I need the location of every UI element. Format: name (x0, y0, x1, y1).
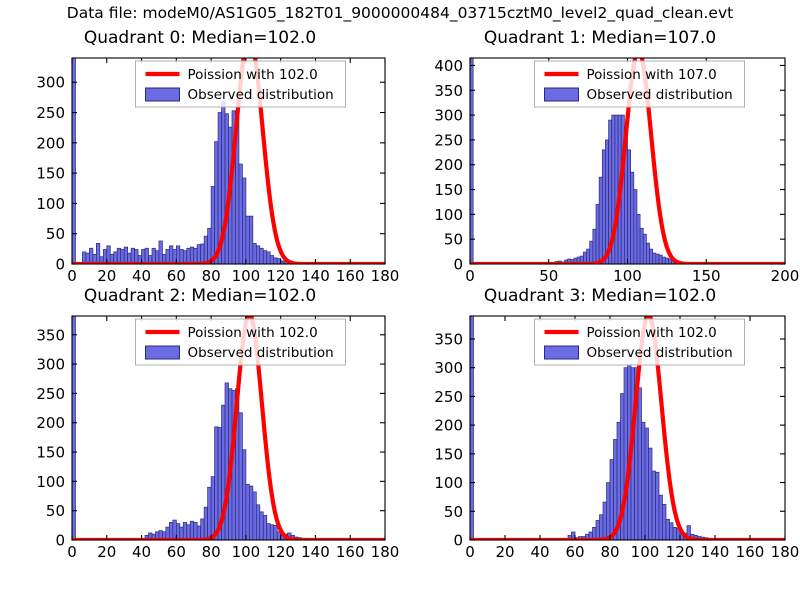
x-tick-label: 80 (202, 267, 221, 285)
legend-label-observed: Observed distribution (587, 87, 733, 103)
histogram-bar (260, 248, 263, 264)
y-tick-label: 150 (434, 181, 463, 199)
histogram-bar (117, 248, 120, 264)
x-tick-label: 150 (692, 267, 721, 285)
legend[interactable]: Poission with 102.0Observed distribution (136, 61, 346, 107)
histogram-bar (587, 249, 590, 264)
histogram-bar (662, 257, 665, 264)
y-tick-label: 50 (46, 502, 65, 520)
legend-bar-swatch (146, 346, 180, 359)
x-tick-label: 120 (666, 543, 695, 561)
histogram-bar (659, 495, 663, 540)
histogram-bar (190, 247, 193, 264)
subplot-quadrant-2: Quadrant 2: Median=102.00204060801001201… (0, 286, 400, 586)
y-tick-label: 50 (46, 225, 65, 243)
x-tick-label: 0 (67, 543, 77, 561)
x-tick-label: 100 (613, 267, 642, 285)
y-tick-label: 300 (434, 359, 463, 377)
plot-area: 0204060801001201401601800501001502002503… (400, 286, 800, 586)
y-tick-label: 100 (36, 473, 65, 491)
subplot-title: Quadrant 2: Median=102.0 (0, 286, 400, 306)
histogram-bar (615, 115, 618, 264)
x-tick-label: 0 (465, 543, 475, 561)
x-tick-label: 120 (266, 543, 295, 561)
y-tick-label: 50 (444, 231, 463, 249)
histogram-bar (145, 248, 148, 264)
y-tick-label: 350 (434, 82, 463, 100)
histogram-bar (187, 525, 190, 540)
histogram-bar (642, 422, 646, 540)
histogram-bar (239, 164, 242, 264)
x-tick-label: 100 (631, 543, 660, 561)
histogram-bar (607, 483, 611, 540)
x-tick-label: 20 (97, 543, 116, 561)
x-tick-label: 20 (97, 267, 116, 285)
histogram-bar (666, 519, 670, 540)
histogram-bar (204, 507, 207, 540)
subplot-quadrant-3: Quadrant 3: Median=102.00204060801001201… (400, 286, 800, 586)
histogram-bar (263, 251, 266, 264)
histogram-bar (590, 241, 593, 264)
histogram-bar (135, 249, 138, 264)
histogram-bar (631, 172, 634, 264)
histogram-bar (646, 243, 649, 264)
histogram-bar (215, 427, 218, 540)
y-tick-label: 350 (36, 326, 65, 344)
histogram-bar (89, 248, 92, 264)
histogram-bar (121, 249, 124, 264)
y-tick-label: 200 (434, 417, 463, 435)
histogram-bar (596, 204, 599, 264)
x-tick-label: 40 (132, 543, 151, 561)
histogram-bar (166, 249, 169, 264)
histogram-bar (152, 248, 155, 264)
histogram-bar (201, 244, 204, 264)
x-tick-label: 140 (301, 543, 330, 561)
x-tick-label: 160 (736, 543, 765, 561)
histogram-bar (96, 243, 99, 264)
y-tick-label: 350 (434, 330, 463, 348)
histogram-bar (246, 484, 249, 540)
histogram-bar (665, 258, 668, 264)
histogram-bar (602, 150, 605, 264)
legend-bar-swatch (545, 346, 579, 359)
histogram-bar (194, 248, 197, 264)
x-tick-label: 200 (771, 267, 800, 285)
histogram-bar (267, 252, 270, 264)
legend-label-poisson: Poission with 102.0 (188, 325, 318, 341)
x-tick-label: 0 (465, 267, 475, 285)
x-tick-label: 160 (336, 267, 365, 285)
histogram-bar (634, 190, 637, 264)
legend-label-poisson: Poission with 102.0 (188, 67, 318, 83)
histogram-bar (190, 521, 193, 540)
histogram-bar (197, 245, 200, 264)
y-tick-label: 0 (453, 532, 463, 550)
histogram-bar (670, 523, 674, 540)
histogram-bar (263, 515, 266, 540)
subplot-title: Quadrant 1: Median=107.0 (400, 28, 800, 48)
y-tick-label: 200 (36, 414, 65, 432)
y-tick-label: 250 (36, 104, 65, 122)
y-tick-label: 150 (36, 444, 65, 462)
legend-label-poisson: Poission with 107.0 (587, 67, 717, 83)
histogram-bar (187, 248, 190, 264)
x-tick-label: 60 (565, 543, 584, 561)
x-tick-label: 40 (530, 543, 549, 561)
y-tick-label: 300 (434, 107, 463, 125)
y-tick-label: 150 (36, 165, 65, 183)
histogram-bar (211, 477, 214, 540)
legend[interactable]: Poission with 102.0Observed distribution (535, 319, 745, 365)
histogram-bar (610, 460, 614, 540)
histogram-bar (652, 471, 656, 540)
histogram-bar (640, 228, 643, 264)
x-tick-label: 180 (371, 543, 400, 561)
y-tick-label: 200 (434, 156, 463, 174)
legend[interactable]: Poission with 107.0Observed distribution (535, 61, 745, 107)
y-tick-label: 0 (453, 256, 463, 274)
histogram-bar (124, 247, 127, 264)
subplot-title: Quadrant 3: Median=102.0 (400, 286, 800, 306)
histogram-bar (260, 512, 263, 540)
x-tick-label: 140 (301, 267, 330, 285)
histogram-bar (624, 368, 628, 540)
y-tick-label: 200 (36, 134, 65, 152)
histogram-bar (650, 249, 653, 264)
legend-label-observed: Observed distribution (587, 345, 733, 361)
histogram-bar (239, 413, 242, 540)
histogram-bar (638, 388, 642, 540)
histogram-bar (673, 527, 677, 540)
legend-bar-swatch (146, 88, 180, 101)
x-tick-label: 40 (132, 267, 151, 285)
x-tick-label: 140 (701, 543, 730, 561)
histogram-bar (169, 246, 172, 264)
histogram-bar (253, 243, 256, 264)
y-tick-label: 150 (434, 445, 463, 463)
x-tick-label: 180 (771, 543, 800, 561)
histogram-bar (645, 428, 649, 540)
histogram-bar (204, 236, 207, 264)
histogram-bar (208, 487, 211, 540)
histogram-bar (593, 229, 596, 264)
y-tick-label: 300 (36, 356, 65, 374)
histogram-bar (208, 228, 211, 264)
histogram-bar (225, 383, 228, 540)
y-tick-label: 100 (434, 474, 463, 492)
histogram-bar (637, 214, 640, 264)
histogram-bar (270, 525, 273, 540)
histogram-bar (249, 486, 252, 540)
histogram-bar (194, 522, 197, 540)
histogram-bar (249, 216, 252, 264)
subplot-title: Quadrant 0: Median=102.0 (0, 28, 400, 48)
histogram-bar (663, 504, 667, 540)
plot-area: 0204060801001201401601800501001502002503… (0, 286, 400, 586)
x-tick-label: 120 (266, 267, 295, 285)
legend-label-poisson: Poission with 102.0 (587, 325, 717, 341)
histogram-bar (600, 515, 604, 540)
histogram-bar (201, 519, 204, 540)
x-tick-label: 50 (539, 267, 558, 285)
legend-label-observed: Observed distribution (188, 345, 334, 361)
y-tick-label: 250 (434, 388, 463, 406)
histogram-bar (131, 248, 134, 264)
plot-area: 0204060801001201401601800501001502002503… (0, 28, 400, 300)
figure-suptitle: Data file: modeM0/AS1G05_182T01_90000004… (0, 4, 800, 22)
histogram-bar (605, 140, 608, 264)
histogram-bar (169, 522, 172, 540)
histogram-bar (596, 520, 600, 540)
histogram-bar (656, 254, 659, 264)
histogram-bar (653, 253, 656, 264)
y-tick-label: 250 (434, 131, 463, 149)
x-tick-label: 160 (336, 543, 365, 561)
y-tick-label: 50 (444, 503, 463, 521)
legend-bar-swatch (545, 88, 579, 101)
histogram-bar (274, 258, 277, 264)
y-tick-label: 100 (36, 195, 65, 213)
legend-label-observed: Observed distribution (188, 87, 334, 103)
histogram-bar (183, 522, 186, 540)
x-tick-label: 180 (371, 267, 400, 285)
legend[interactable]: Poission with 102.0Observed distribution (136, 319, 346, 365)
y-tick-label: 0 (55, 256, 65, 274)
figure-canvas: Data file: modeM0/AS1G05_182T01_90000004… (0, 0, 800, 600)
histogram-bar (274, 525, 277, 540)
y-tick-label: 100 (434, 206, 463, 224)
histogram-bar (256, 505, 259, 540)
x-tick-label: 80 (600, 543, 619, 561)
x-tick-label: 100 (232, 543, 261, 561)
subplot-quadrant-1: Quadrant 1: Median=107.00501001502000501… (400, 28, 800, 300)
x-tick-label: 0 (67, 267, 77, 285)
plot-area: 050100150200050100150200250300350400Pois… (400, 28, 800, 300)
histogram-bar (211, 186, 214, 264)
histogram-bar (242, 450, 245, 540)
y-tick-label: 300 (36, 74, 65, 92)
histogram-bar (215, 142, 218, 264)
histogram-bar (659, 255, 662, 264)
histogram-bar (246, 216, 249, 264)
histogram-bar (159, 241, 162, 264)
x-tick-label: 100 (232, 267, 261, 285)
histogram-bar (649, 448, 653, 540)
y-tick-label: 0 (55, 532, 65, 550)
y-tick-label: 400 (434, 57, 463, 75)
histogram-bar (242, 178, 245, 264)
subplot-quadrant-0: Quadrant 0: Median=102.00204060801001201… (0, 28, 400, 300)
x-tick-label: 80 (202, 543, 221, 561)
histogram-bar (270, 256, 273, 264)
histogram-bar (628, 150, 631, 264)
histogram-bar (256, 246, 259, 264)
histogram-bar (643, 234, 646, 264)
x-tick-label: 20 (495, 543, 514, 561)
histogram-bar (599, 177, 602, 264)
histogram-bar (253, 492, 256, 540)
histogram-bar (267, 524, 270, 540)
x-tick-label: 60 (167, 267, 186, 285)
histogram-bar (180, 249, 183, 264)
histogram-bar (603, 502, 607, 540)
x-tick-label: 60 (167, 543, 186, 561)
y-tick-label: 250 (36, 385, 65, 403)
histogram-bar (656, 472, 660, 540)
